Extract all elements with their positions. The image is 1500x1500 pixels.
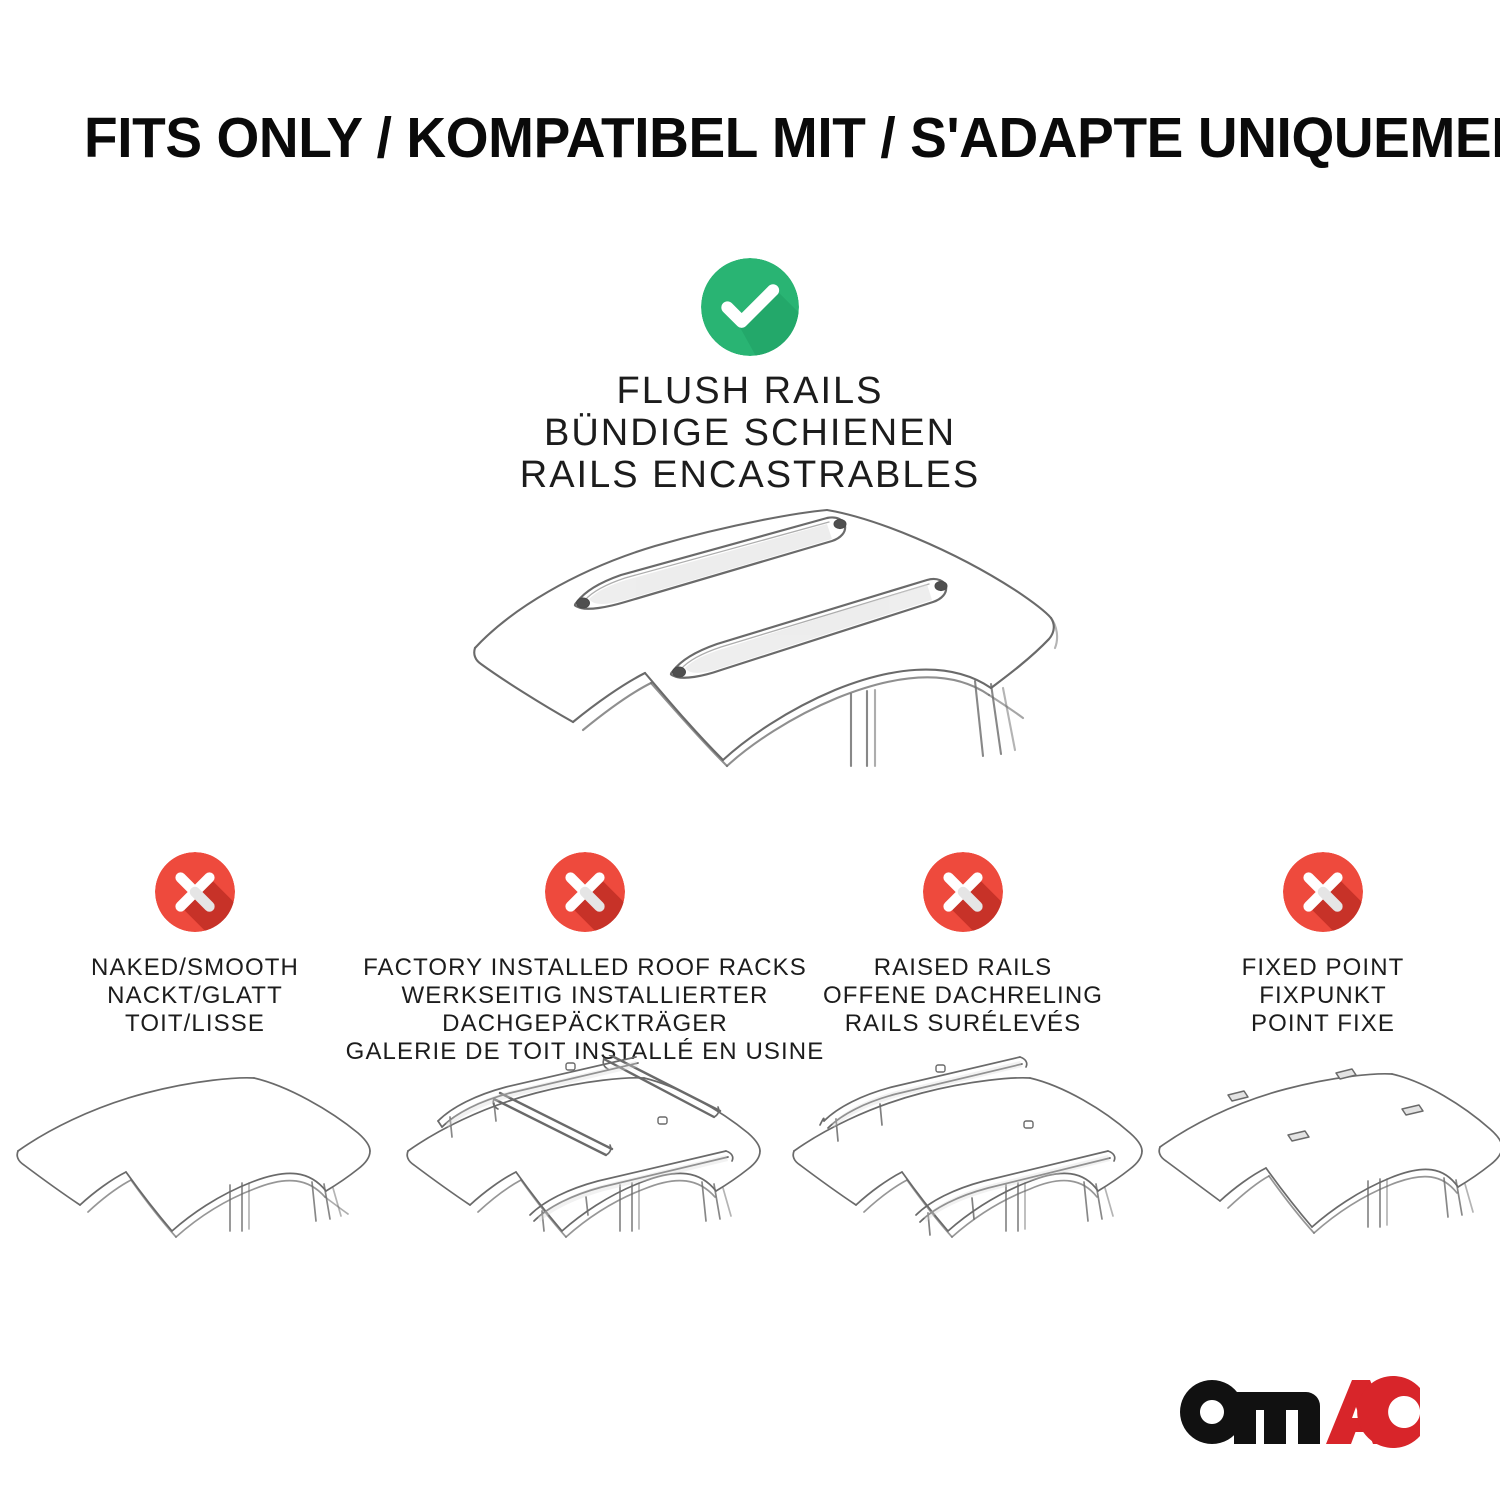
incompatible-label-fr: TOIT/LISSE: [91, 1010, 299, 1038]
compatible-label-de: BÜNDIGE SCHIENEN: [0, 412, 1500, 454]
incompatible-labels: RAISED RAILS OFFENE DACHRELING RAILS SUR…: [823, 954, 1103, 1038]
omac-logo: [1176, 1376, 1428, 1448]
compatible-labels: FLUSH RAILS BÜNDIGE SCHIENEN RAILS ENCAS…: [0, 370, 1500, 496]
x-circle-icon: [1283, 852, 1363, 932]
incompatible-illustrations-row: [0, 1055, 1500, 1290]
car-roof-with-flush-rails-illustration: [455, 498, 1065, 798]
logo-letter-m: [1234, 1392, 1320, 1444]
incompatible-column-fixed-point: FIXED POINT FIXPUNKT POINT FIXE: [1146, 852, 1500, 1066]
check-circle-icon: [701, 258, 799, 356]
incompatible-labels: FIXED POINT FIXPUNKT POINT FIXE: [1242, 954, 1405, 1038]
incompatible-labels: NAKED/SMOOTH NACKT/GLATT TOIT/LISSE: [91, 954, 299, 1038]
header: FITS ONLY / KOMPATIBEL MIT / S'ADAPTE UN…: [84, 108, 1424, 170]
compatible-label-en: FLUSH RAILS: [0, 370, 1500, 412]
incompatible-column-raised-rails: RAISED RAILS OFFENE DACHRELING RAILS SUR…: [780, 852, 1146, 1066]
incompatible-label-de-1: WERKSEITIG INSTALLIERTER: [346, 982, 825, 1010]
car-roof-raised-rails-illustration: [780, 1055, 1146, 1290]
car-roof-factory-installed-roof-racks-illustration: [390, 1055, 780, 1290]
incompatible-labels: FACTORY INSTALLED ROOF RACKS WERKSEITIG …: [346, 954, 825, 1066]
car-roof-naked-smooth-illustration: [0, 1055, 390, 1290]
incompatible-label-en: FACTORY INSTALLED ROOF RACKS: [346, 954, 825, 982]
incompatible-column-factory-roof-racks: FACTORY INSTALLED ROOF RACKS WERKSEITIG …: [390, 852, 780, 1066]
compatible-label-fr: RAILS ENCASTRABLES: [0, 454, 1500, 496]
x-circle-icon: [545, 852, 625, 932]
incompatible-label-en: FIXED POINT: [1242, 954, 1405, 982]
x-circle-icon: [923, 852, 1003, 932]
incompatible-label-fr: RAILS SURÉLEVÉS: [823, 1010, 1103, 1038]
incompatible-label-de: NACKT/GLATT: [91, 982, 299, 1010]
incompatible-label-de: OFFENE DACHRELING: [823, 982, 1103, 1010]
incompatible-column-naked-smooth: NAKED/SMOOTH NACKT/GLATT TOIT/LISSE: [0, 852, 390, 1066]
incompatible-label-fr: POINT FIXE: [1242, 1010, 1405, 1038]
incompatible-label-en: NAKED/SMOOTH: [91, 954, 299, 982]
incompatible-section: NAKED/SMOOTH NACKT/GLATT TOIT/LISSE FACT…: [0, 852, 1500, 1066]
compatible-badge-wrap: [0, 258, 1500, 356]
compatible-section: FLUSH RAILS BÜNDIGE SCHIENEN RAILS ENCAS…: [0, 258, 1500, 496]
page-title: FITS ONLY / KOMPATIBEL MIT / S'ADAPTE UN…: [84, 108, 1377, 168]
car-roof-fixed-point-illustration: [1146, 1055, 1500, 1290]
x-circle-icon: [155, 852, 235, 932]
incompatible-label-de: FIXPUNKT: [1242, 982, 1405, 1010]
incompatible-label-de-2: DACHGEPÄCKTRÄGER: [346, 1010, 825, 1038]
incompatible-label-en: RAISED RAILS: [823, 954, 1103, 982]
